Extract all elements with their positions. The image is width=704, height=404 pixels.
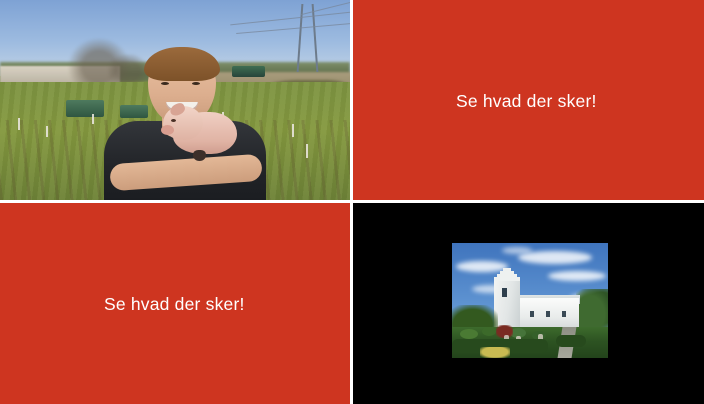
gable-step [503,268,511,272]
cloud [548,271,606,281]
panel-bottom-left[interactable]: Se hvad der sker! [0,203,350,404]
piglet-eye [171,119,176,122]
power-pylon [296,4,318,72]
tower-louvre-window [502,288,507,297]
slide-caption: Se hvad der sker! [456,93,597,111]
church-window [546,311,550,317]
tree-cluster-right [576,289,608,331]
shrub [460,329,478,339]
piglet-hoof [193,150,206,161]
panel-top-left[interactable] [0,0,350,200]
farmer-with-piglet-photo [0,0,350,200]
pig-hut [66,100,104,117]
field-marker [92,114,94,124]
church-window [530,311,534,317]
piglet-figure [163,106,237,172]
field-marker [46,126,48,137]
video-grid: Se hvad der sker! Se hvad der sker! [0,0,704,404]
field-marker [18,118,20,130]
slide-caption: Se hvad der sker! [104,296,245,314]
yellow-flowering-bush [480,347,510,358]
cloud [518,251,592,264]
danish-white-church-photo [452,243,608,358]
cloud [502,247,532,254]
panel-top-right[interactable]: Se hvad der sker! [353,0,704,200]
church-stepped-gable [494,268,520,281]
field-marker [306,144,308,158]
shrub [482,327,496,336]
church-window [562,311,566,317]
farmer-hair [144,47,220,82]
farmer-eye [192,82,200,85]
field-marker [292,124,294,137]
boxwood-hedge [556,335,586,347]
panel-bottom-right[interactable] [353,203,704,404]
piglet-snout [161,125,174,135]
farmer-eye [161,82,169,85]
